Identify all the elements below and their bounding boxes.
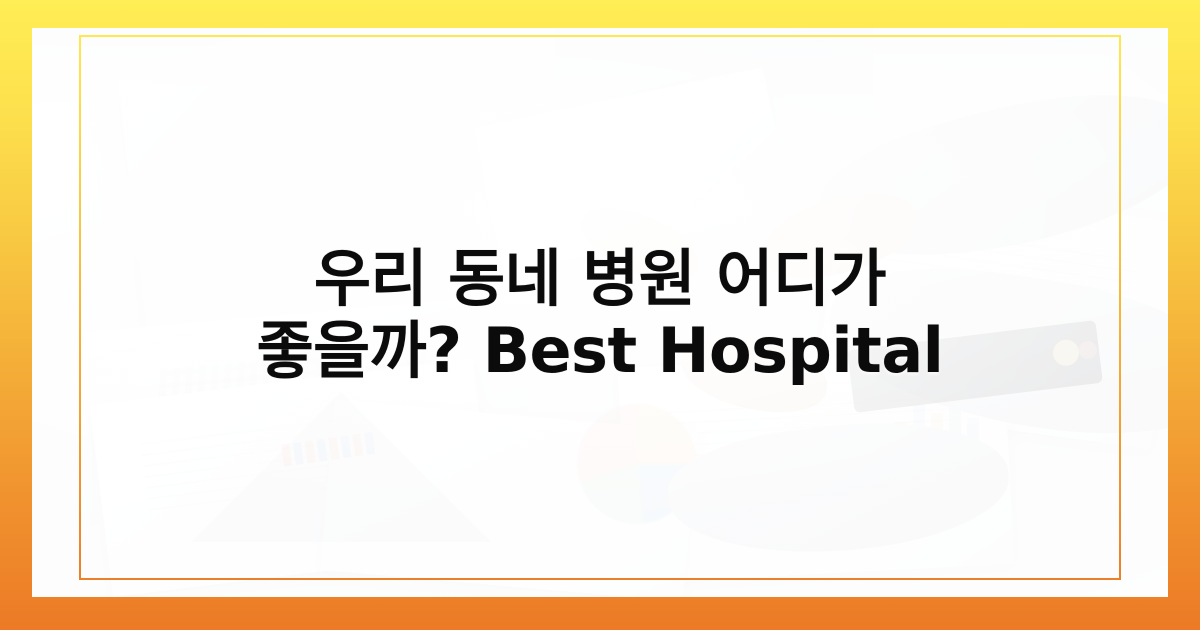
title-block: 우리 동네 병원 어디가 좋을까? Best Hospital	[0, 243, 1200, 387]
thumbnail-card: 우리 동네 병원 어디가 좋을까? Best Hospital	[0, 0, 1200, 630]
page-title: 우리 동네 병원 어디가 좋을까? Best Hospital	[250, 243, 950, 387]
